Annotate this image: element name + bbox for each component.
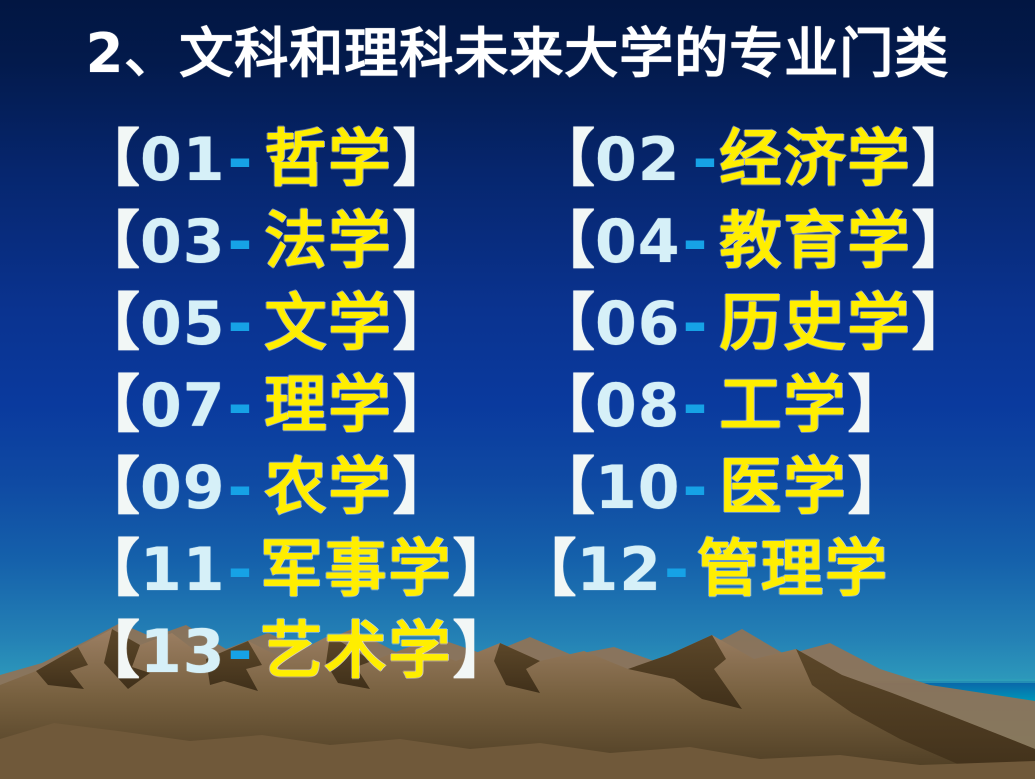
item-subject: 医学 — [719, 456, 847, 518]
list-item-13[interactable]: 【 13 - 艺术学 】 — [78, 620, 514, 682]
separator-dash: - — [681, 212, 710, 272]
separator-dash: - — [681, 294, 710, 354]
separator-dash: - — [226, 622, 255, 682]
list-item-10[interactable]: 【 10 - 医学 】 — [533, 456, 1003, 518]
separator-dash: - — [681, 376, 710, 436]
item-number: 12 — [576, 540, 662, 600]
separator-dash: - — [691, 130, 720, 190]
page-title: 2、文科和理科未来大学的专业门类 — [0, 26, 1035, 83]
list-row: 【 09 - 农学 】 【 10 - 医学 】 — [78, 456, 1028, 538]
close-bracket: 】 — [911, 292, 973, 354]
list-item-03[interactable]: 【 03 - 法学 】 — [78, 210, 533, 272]
list-row: 【 11 - 军事学 】 【 12 - 管理学 — [78, 538, 1028, 620]
close-bracket: 】 — [392, 374, 454, 436]
separator-dash: - — [662, 540, 691, 600]
close-bracket: 】 — [392, 128, 454, 190]
open-bracket: 【 — [514, 538, 576, 600]
item-number: 05 — [140, 294, 226, 354]
open-bracket: 【 — [78, 538, 140, 600]
item-number: 08 — [595, 376, 681, 436]
item-subject: 文学 — [264, 292, 392, 354]
list-item-01[interactable]: 【 01 - 哲学 】 — [78, 128, 533, 190]
list-item-04[interactable]: 【 04 - 教育学 】 — [533, 210, 1003, 272]
list-item-12[interactable]: 【 12 - 管理学 — [514, 538, 888, 600]
list-row: 【 07 - 理学 】 【 08 - 工学 】 — [78, 374, 1028, 456]
item-number: 13 — [140, 622, 226, 682]
separator-dash: - — [226, 376, 255, 436]
list-item-02[interactable]: 【 02 - 经济学 】 — [533, 128, 1003, 190]
close-bracket: 】 — [847, 456, 909, 518]
item-number: 11 — [140, 540, 226, 600]
item-subject: 历史学 — [719, 292, 911, 354]
item-subject: 军事学 — [260, 538, 452, 600]
close-bracket: 】 — [452, 620, 514, 682]
close-bracket: 】 — [911, 128, 973, 190]
item-number: 09 — [140, 458, 226, 518]
separator-dash: - — [226, 130, 255, 190]
separator-dash: - — [226, 458, 255, 518]
item-subject: 经济学 — [719, 128, 911, 190]
open-bracket: 【 — [78, 128, 140, 190]
open-bracket: 【 — [533, 456, 595, 518]
open-bracket: 【 — [78, 210, 140, 272]
close-bracket: 】 — [392, 210, 454, 272]
close-bracket: 】 — [847, 374, 909, 436]
list-row: 【 01 - 哲学 】 【 02 - 经济学 】 — [78, 128, 1028, 210]
item-number: 03 — [140, 212, 226, 272]
open-bracket: 【 — [533, 210, 595, 272]
open-bracket: 【 — [533, 374, 595, 436]
list-row: 【 05 - 文学 】 【 06 - 历史学 】 — [78, 292, 1028, 374]
close-bracket: 】 — [392, 292, 454, 354]
separator-dash: - — [226, 294, 255, 354]
open-bracket: 【 — [533, 128, 595, 190]
separator-dash: - — [226, 212, 255, 272]
item-subject: 理学 — [264, 374, 392, 436]
list-row: 【 13 - 艺术学 】 — [78, 620, 1028, 702]
item-subject: 艺术学 — [260, 620, 452, 682]
list-item-08[interactable]: 【 08 - 工学 】 — [533, 374, 1003, 436]
close-bracket: 】 — [911, 210, 973, 272]
item-subject: 法学 — [264, 210, 392, 272]
open-bracket: 【 — [78, 456, 140, 518]
item-number: 02 — [595, 130, 681, 190]
item-number: 07 — [140, 376, 226, 436]
open-bracket: 【 — [78, 374, 140, 436]
mountain-foreground-left — [0, 723, 1035, 779]
slide-canvas: 2、文科和理科未来大学的专业门类 【 01 - 哲学 】 【 02 - 经济学 … — [0, 0, 1035, 779]
item-number: 01 — [140, 130, 226, 190]
open-bracket: 【 — [533, 292, 595, 354]
list-item-05[interactable]: 【 05 - 文学 】 — [78, 292, 533, 354]
item-subject: 哲学 — [264, 128, 392, 190]
item-subject: 农学 — [264, 456, 392, 518]
list-item-11[interactable]: 【 11 - 军事学 】 — [78, 538, 514, 600]
item-number: 06 — [595, 294, 681, 354]
separator-dash: - — [681, 458, 710, 518]
item-subject: 工学 — [719, 374, 847, 436]
item-number: 04 — [595, 212, 681, 272]
item-subject: 管理学 — [697, 538, 889, 600]
open-bracket: 【 — [78, 292, 140, 354]
close-bracket: 】 — [392, 456, 454, 518]
major-category-list: 【 01 - 哲学 】 【 02 - 经济学 】 【 03 - — [78, 128, 1028, 702]
list-item-09[interactable]: 【 09 - 农学 】 — [78, 456, 533, 518]
item-number: 10 — [595, 458, 681, 518]
list-item-06[interactable]: 【 06 - 历史学 】 — [533, 292, 1003, 354]
separator-dash: - — [226, 540, 255, 600]
list-item-07[interactable]: 【 07 - 理学 】 — [78, 374, 533, 436]
close-bracket: 】 — [452, 538, 514, 600]
list-row: 【 03 - 法学 】 【 04 - 教育学 】 — [78, 210, 1028, 292]
item-subject: 教育学 — [719, 210, 911, 272]
open-bracket: 【 — [78, 620, 140, 682]
